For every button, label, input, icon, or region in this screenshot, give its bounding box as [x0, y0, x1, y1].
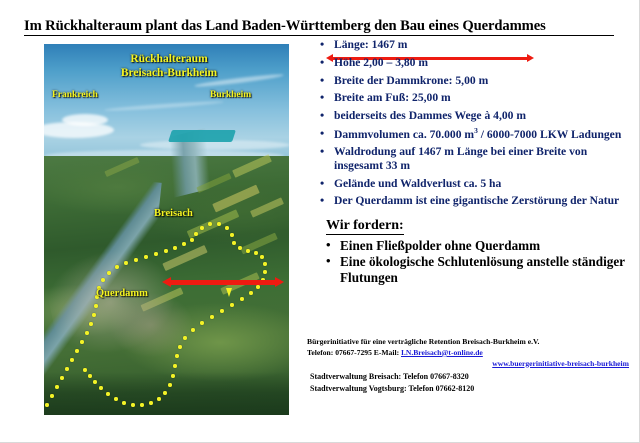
facts-list: Länge: 1467 mHöhe 2,00 – 3,80 mBreite de… — [318, 38, 636, 208]
demand-item: Eine ökologische Schlutenlösung anstelle… — [318, 254, 636, 285]
lake-shape — [168, 130, 236, 142]
footer-phone-label: Telefon: 07667-7295 E-Mail: — [307, 348, 401, 357]
demands-list: Einen Fließpolder ohne QuerdammEine ökol… — [318, 238, 636, 286]
querdamm-marker — [170, 280, 276, 285]
fact-item: Breite am Fuß: 25,00 m — [318, 91, 636, 105]
aerial-photo: Rückhalteraum Breisach-Burkheim Frankrei… — [44, 44, 289, 415]
fact-item-label: Breite der Dammkrone: 5,00 m — [334, 74, 488, 87]
fact-item-label: Der Querdamm ist eine gigantische Zerstö… — [334, 194, 619, 207]
foreground-forest — [44, 372, 289, 415]
footer-org: Bürgerinitiative für eine verträgliche R… — [307, 337, 637, 348]
map-label-querdamm: Querdamm — [96, 288, 148, 299]
overlay-title-line1: Rückhalteraum — [130, 53, 207, 65]
fact-item: Der Querdamm ist eine gigantische Zerstö… — [318, 194, 636, 208]
demands-block: Wir fordern: Einen Fließpolder ohne Quer… — [318, 212, 636, 285]
fact-item: Länge: 1467 m — [318, 38, 636, 52]
fact-item-label: beiderseits des Dammes Wege à 4,00 m — [334, 109, 526, 122]
footer-authorities: Stadtverwaltung Breisach: Telefon 07667-… — [310, 371, 640, 394]
fact-item-label: Waldrodung auf 1467 m Länge bei einer Br… — [334, 145, 587, 172]
overlay-title-line2: Breisach-Burkheim — [121, 67, 217, 79]
footer-vogtsburg-line: Stadtverwaltung Vogtsburg: Telefon 07662… — [310, 383, 640, 395]
map-label-frankreich: Frankreich — [52, 90, 98, 100]
footer-website-link[interactable]: www.buergerinitiative-breisach-burkheim — [307, 359, 637, 370]
map-label-breisach: Breisach — [154, 208, 193, 219]
fact-item-label: Gelände und Waldverlust ca. 5 ha — [334, 177, 501, 190]
facts-column: Länge: 1467 mHöhe 2,00 – 3,80 mBreite de… — [318, 38, 636, 286]
fact-item: Gelände und Waldverlust ca. 5 ha — [318, 177, 636, 191]
footer-breisach-line: Stadtverwaltung Breisach: Telefon 07667-… — [310, 371, 640, 383]
fact-item-label: Dammvolumen ca. 70.000 m3 / 6000-7000 LK… — [334, 128, 621, 141]
fact-item-label: Breite am Fuß: 25,00 m — [334, 91, 451, 104]
demand-item: Einen Fließpolder ohne Querdamm — [318, 238, 636, 254]
fact-item: Waldrodung auf 1467 m Länge bei einer Br… — [318, 145, 636, 172]
fact-item: Dammvolumen ca. 70.000 m3 / 6000-7000 LK… — [318, 127, 636, 141]
map-label-burkheim: Burkheim — [210, 90, 251, 100]
fact-item: Höhe 2,00 – 3,80 m — [318, 56, 636, 70]
page-title: Im Rückhalteraum plant das Land Baden-Wü… — [24, 19, 614, 36]
footer-contact: Bürgerinitiative für eine verträgliche R… — [307, 337, 637, 369]
down-arrow-icon — [226, 288, 232, 297]
fact-item: Breite der Dammkrone: 5,00 m — [318, 74, 636, 88]
fact-item-label: Länge: 1467 m — [334, 38, 407, 51]
photo-overlay-title: Rückhalteraum Breisach-Burkheim — [94, 52, 244, 80]
fact-item-label: Höhe 2,00 – 3,80 m — [334, 56, 428, 69]
cloud-shape — [62, 114, 108, 126]
footer-email-link[interactable]: I.N.Breisach@t-online.de — [401, 348, 483, 357]
demands-heading: Wir fordern: — [326, 218, 404, 234]
footer-phone-line: Telefon: 07667-7295 E-Mail: I.N.Breisach… — [307, 348, 637, 359]
slide-canvas: Im Rückhalteraum plant das Land Baden-Wü… — [0, 0, 640, 443]
fact-item: beiderseits des Dammes Wege à 4,00 m — [318, 109, 636, 123]
